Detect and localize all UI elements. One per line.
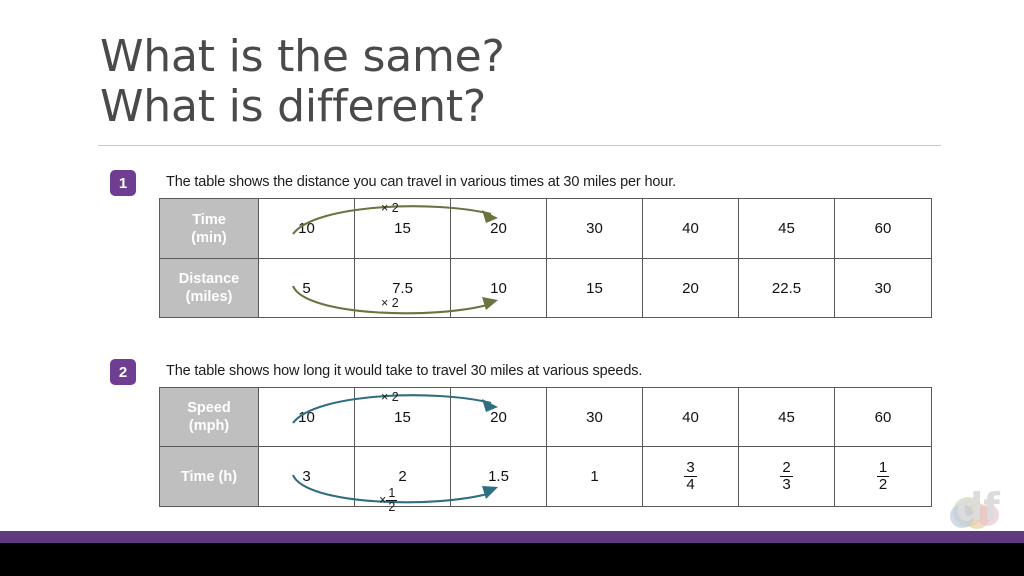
question-prompt-2: The table shows how long it would take t… xyxy=(166,363,642,379)
multiplier-label-bottom-1: × 2 xyxy=(381,296,399,310)
question-number-label-1: 1 xyxy=(119,175,127,192)
fraction-numerator: 3 xyxy=(684,460,696,476)
fraction: 2 3 xyxy=(780,460,792,493)
row-header-distance-miles: Distance (miles) xyxy=(160,259,259,318)
table-row: Time (min) 10 15 20 30 40 45 60 xyxy=(160,199,932,259)
cell-distance-5: 22.5 xyxy=(739,259,835,318)
multiplier-label-top-2: × 2 xyxy=(381,390,399,404)
cell-distance-4: 20 xyxy=(643,259,739,318)
fraction: 1 2 xyxy=(877,460,889,493)
fraction-numerator: 1 xyxy=(877,460,889,476)
row-header-line-2: (mph) xyxy=(160,417,258,435)
row-header-speed-mph: Speed (mph) xyxy=(160,388,259,447)
row-header-line-1: Distance xyxy=(160,270,258,288)
cell-speed-1: 15 xyxy=(355,388,451,447)
table-distance-time: Time (min) 10 15 20 30 40 45 60 Distance… xyxy=(159,198,932,318)
cell-speed-4: 40 xyxy=(643,388,739,447)
cell-time-h-4: 3 4 xyxy=(643,447,739,507)
question-number-label-2: 2 xyxy=(119,364,127,381)
cell-time-5: 45 xyxy=(739,199,835,259)
cell-time-h-0: 3 xyxy=(259,447,355,507)
title-divider xyxy=(98,145,941,146)
slide-canvas: What is the same? What is different? 1 T… xyxy=(0,0,1024,576)
fraction-denominator: 4 xyxy=(684,476,696,493)
table-row: Distance (miles) 5 7.5 10 15 20 22.5 30 xyxy=(160,259,932,318)
cell-distance-1: 7.5 xyxy=(355,259,451,318)
cell-time-0: 10 xyxy=(259,199,355,259)
fraction-denominator: 3 xyxy=(780,476,792,493)
cell-distance-6: 30 xyxy=(835,259,932,318)
footer-bar-black xyxy=(0,543,1024,576)
row-header-line-2: (min) xyxy=(160,229,258,247)
title-line-1: What is the same? xyxy=(100,32,940,82)
cell-speed-2: 20 xyxy=(451,388,547,447)
multiplier-label-bottom-2: ×12 xyxy=(379,487,397,514)
cell-speed-0: 10 xyxy=(259,388,355,447)
cell-time-6: 60 xyxy=(835,199,932,259)
cell-distance-0: 5 xyxy=(259,259,355,318)
fraction-denominator: 2 xyxy=(877,476,889,493)
cell-time-3: 30 xyxy=(547,199,643,259)
table-speed-time: Speed (mph) 10 15 20 30 40 45 60 Time (h… xyxy=(159,387,932,507)
cell-speed-6: 60 xyxy=(835,388,932,447)
footer-bar-purple xyxy=(0,531,1024,543)
row-header-line-1: Time (h) xyxy=(160,468,258,486)
cell-time-1: 15 xyxy=(355,199,451,259)
question-prompt-1: The table shows the distance you can tra… xyxy=(166,174,676,190)
cell-speed-3: 30 xyxy=(547,388,643,447)
fraction-numerator: 1 xyxy=(386,487,397,500)
cell-time-h-3: 1 xyxy=(547,447,643,507)
table-row: Time (h) 3 2 1.5 1 3 4 2 3 xyxy=(160,447,932,507)
cell-speed-5: 45 xyxy=(739,388,835,447)
table-row: Speed (mph) 10 15 20 30 40 45 60 xyxy=(160,388,932,447)
cell-time-h-5: 2 3 xyxy=(739,447,835,507)
row-header-line-2: (miles) xyxy=(160,288,258,306)
cell-distance-2: 10 xyxy=(451,259,547,318)
brand-logo-icon: df xyxy=(944,482,1018,532)
row-header-time-h: Time (h) xyxy=(160,447,259,507)
row-header-line-1: Time xyxy=(160,211,258,229)
cell-distance-3: 15 xyxy=(547,259,643,318)
fraction: 12 xyxy=(386,487,397,514)
cell-time-h-6: 1 2 xyxy=(835,447,932,507)
cell-time-2: 20 xyxy=(451,199,547,259)
fraction: 3 4 xyxy=(684,460,696,493)
brand-logo-text: df xyxy=(956,485,1000,529)
multiplier-label-prefix-2: × xyxy=(379,493,386,507)
question-number-badge-2: 2 xyxy=(110,359,136,385)
cell-time-4: 40 xyxy=(643,199,739,259)
multiplier-label-top-1: × 2 xyxy=(381,201,399,215)
row-header-line-1: Speed xyxy=(160,399,258,417)
question-number-badge-1: 1 xyxy=(110,170,136,196)
cell-time-h-2: 1.5 xyxy=(451,447,547,507)
fraction-denominator: 2 xyxy=(386,500,397,514)
row-header-time-min: Time (min) xyxy=(160,199,259,259)
page-title: What is the same? What is different? xyxy=(100,32,940,132)
title-line-2: What is different? xyxy=(100,82,940,132)
fraction-numerator: 2 xyxy=(780,460,792,476)
cell-time-h-1: 2 xyxy=(355,447,451,507)
